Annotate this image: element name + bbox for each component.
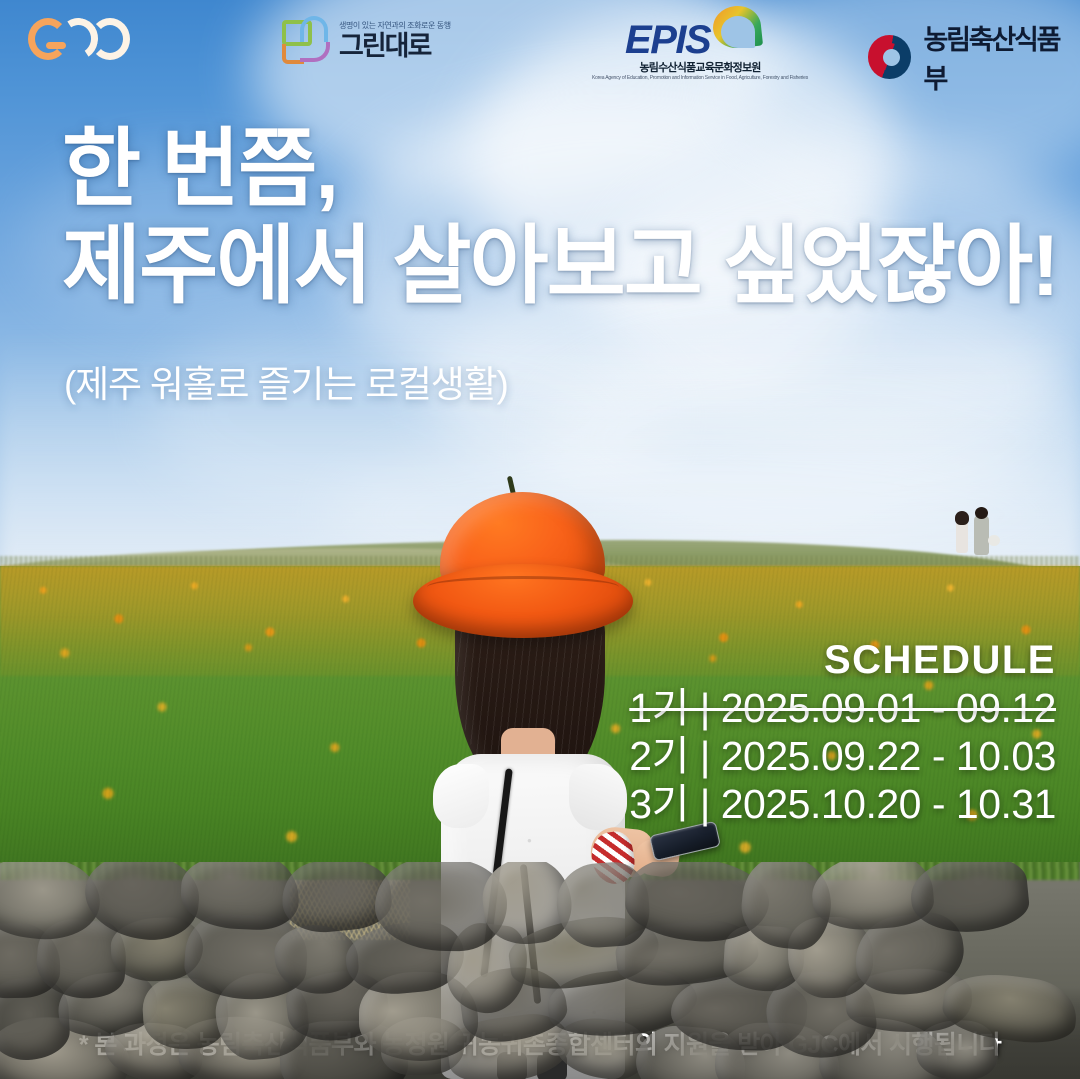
gjc-logo-icon (28, 18, 132, 62)
schedule-row-3: 3기 | 2025.10.20 - 10.31 (629, 781, 1056, 829)
hat-band (427, 576, 619, 598)
schedule-row-1: 1기 | 2025.09.01 - 09.12 (629, 685, 1056, 733)
taegeuk-icon (868, 35, 911, 79)
person-head (975, 507, 988, 519)
headline-line-1: 한 번쯤, (62, 128, 1062, 211)
distant-couple (950, 505, 1010, 560)
purple-wave-icon (300, 42, 330, 62)
mafra-logo: 농림축산식품부 (868, 18, 1080, 96)
epis-swoosh-cutout-icon (721, 16, 755, 48)
greendaero-text-block: 생명이 있는 자연과의 조화로운 동행 그린대로 (339, 22, 451, 60)
greendaero-logo: 생명이 있는 자연과의 조화로운 동행 그린대로 (278, 14, 451, 68)
greendaero-tagline: 생명이 있는 자연과의 조화로운 동행 (339, 22, 451, 30)
mafra-wordmark: 농림축산식품부 (923, 18, 1080, 96)
greendaero-logo-icon (278, 14, 330, 68)
greendaero-wordmark: 그린대로 (339, 33, 451, 60)
gjc-letter-c-icon (90, 18, 130, 60)
schedule-title: SCHEDULE (629, 638, 1056, 683)
gjc-logo (28, 18, 132, 62)
blue-arc-icon (300, 16, 328, 42)
headline-line-2: 제주에서 살아보고 싶었잖아! (62, 225, 1062, 308)
person-figure (974, 515, 989, 555)
bag-shape (988, 535, 1000, 546)
schedule-row-2: 2기 | 2025.09.22 - 10.03 (629, 733, 1056, 781)
epis-logo: EPIS 농림수산식품교육문화정보원 Korea Agency of Educa… (592, 10, 808, 81)
stone-wall: /* stones injected below */ (0, 862, 1080, 1079)
headline: 한 번쯤, 제주에서 살아보고 싶었잖아! (62, 128, 1062, 309)
subheadline: (제주 워홀로 즐기는 로컬생활) (64, 354, 508, 408)
poster-root: /* stones injected below */ (0, 0, 1080, 1079)
person-head (955, 511, 969, 525)
sleeve-left (433, 764, 489, 828)
epis-logo-icon: EPIS (625, 10, 775, 58)
schedule-block: SCHEDULE 1기 | 2025.09.01 - 09.12 2기 | 20… (629, 638, 1056, 829)
epis-wordmark: EPIS (625, 18, 710, 63)
sponsor-logo-bar: 생명이 있는 자연과의 조화로운 동행 그린대로 EPIS 농림수산식품교육문화… (0, 0, 1080, 88)
sleeve-right (569, 764, 627, 830)
epis-subtitle-en: Korea Agency of Education, Promotion and… (592, 75, 808, 81)
